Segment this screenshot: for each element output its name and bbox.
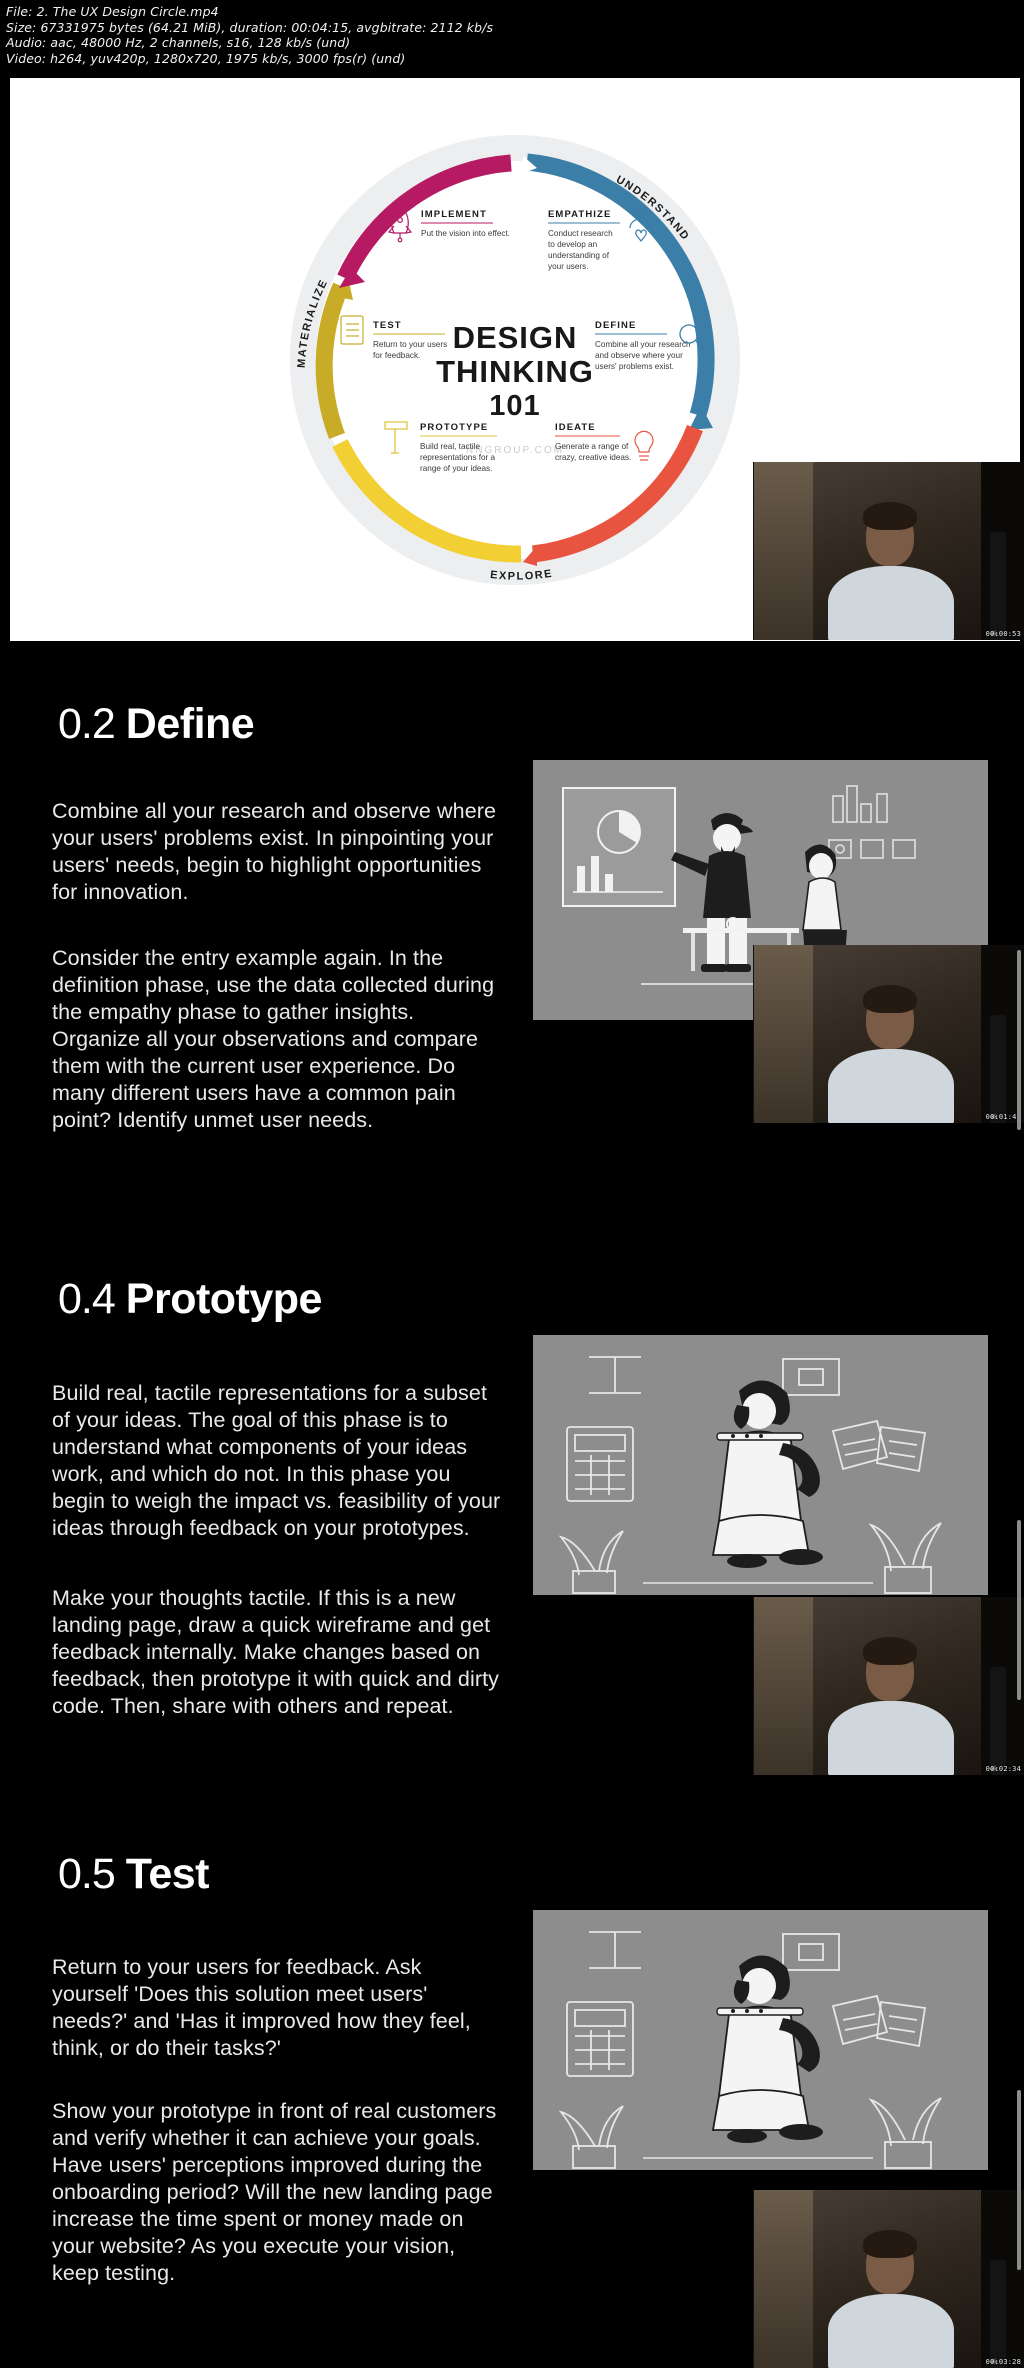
webcam-microphone bbox=[990, 1667, 1006, 1775]
diagram-center-title-line1: DESIGN bbox=[453, 320, 578, 355]
section-title: Define bbox=[126, 700, 254, 748]
svg-text:representations for a: representations for a bbox=[420, 453, 496, 462]
svg-text:Generate a range of: Generate a range of bbox=[555, 442, 629, 451]
svg-text:PROTOTYPE: PROTOTYPE bbox=[420, 422, 488, 433]
webcam-thumbnail-top[interactable]: 4k 00:00:53 bbox=[753, 462, 1024, 640]
webcam-presenter-body bbox=[828, 1049, 954, 1123]
section-prototype: 0.4Prototype Build real, tactile represe… bbox=[0, 1255, 1024, 1815]
section-paragraph-1: Combine all your research and observe wh… bbox=[52, 798, 497, 906]
meta-line-audio: Audio: aac, 48000 Hz, 2 channels, s16, 1… bbox=[6, 35, 1018, 51]
svg-text:TEST: TEST bbox=[373, 320, 402, 331]
webcam-presenter-hair bbox=[863, 985, 917, 1013]
svg-text:DEFINE: DEFINE bbox=[595, 320, 636, 331]
section-paragraph-2: Consider the entry example again. In the… bbox=[52, 945, 497, 1134]
design-thinking-diagram: UNDERSTAND EXPLORE MATERIALIZE DESIGN TH… bbox=[265, 110, 765, 610]
webcam-microphone bbox=[990, 1015, 1006, 1123]
section-number: 0.2 bbox=[58, 700, 115, 748]
svg-text:Conduct research: Conduct research bbox=[548, 229, 613, 238]
webcam-microphone bbox=[990, 532, 1006, 640]
meta-line-size: Size: 67331975 bytes (64.21 MiB), durati… bbox=[6, 20, 1018, 36]
illustration-prototype bbox=[533, 1335, 988, 1595]
svg-text:crazy, creative ideas.: crazy, creative ideas. bbox=[555, 453, 631, 462]
section-define: 0.2Define Combine all your research and … bbox=[0, 680, 1024, 1190]
meta-line-file: File: 2. The UX Design Circle.mp4 bbox=[6, 4, 1018, 20]
svg-text:Put the vision into effect.: Put the vision into effect. bbox=[421, 229, 510, 238]
video-metadata-header: File: 2. The UX Design Circle.mp4 Size: … bbox=[0, 0, 1024, 70]
svg-text:EMPATHIZE: EMPATHIZE bbox=[548, 209, 611, 220]
section-test: 0.5Test Return to your users for feedbac… bbox=[0, 1830, 1024, 2368]
svg-text:your users.: your users. bbox=[548, 262, 589, 271]
webcam-presenter-body bbox=[828, 1701, 954, 1775]
svg-text:understanding of: understanding of bbox=[548, 251, 610, 260]
section-paragraph-2: Make your thoughts tactile. If this is a… bbox=[52, 1585, 502, 1720]
svg-text:Build real, tactile: Build real, tactile bbox=[420, 442, 481, 451]
webcam-presenter-body bbox=[828, 566, 954, 640]
svg-text:Return to your users: Return to your users bbox=[373, 340, 447, 349]
scroll-indicator-3[interactable] bbox=[1017, 2090, 1021, 2270]
webcam-timestamp: 00:01:48 bbox=[986, 1113, 1021, 1121]
svg-text:to develop an: to develop an bbox=[548, 240, 598, 249]
illustration-test bbox=[533, 1910, 988, 2170]
webcam-presenter-body bbox=[828, 2294, 954, 2368]
scroll-indicator-2[interactable] bbox=[1017, 1520, 1021, 1700]
webcam-wall bbox=[754, 462, 813, 640]
section-paragraph-1: Build real, tactile representations for … bbox=[52, 1380, 502, 1542]
webcam-timestamp: 00:03:28 bbox=[986, 2358, 1021, 2366]
svg-text:and observe where your: and observe where your bbox=[595, 351, 683, 360]
webcam-wall bbox=[754, 2190, 813, 2368]
webcam-timestamp: 00:00:53 bbox=[986, 630, 1021, 638]
webcam-thumbnail-prototype[interactable]: 4k 00:02:34 bbox=[753, 1597, 1024, 1775]
section-heading-define: 0.2Define bbox=[58, 700, 254, 748]
section-number: 0.4 bbox=[58, 1275, 115, 1323]
webcam-wall bbox=[754, 945, 813, 1123]
section-paragraph-1: Return to your users for feedback. Ask y… bbox=[52, 1954, 502, 2062]
svg-text:users' problems exist.: users' problems exist. bbox=[595, 362, 674, 371]
webcam-timestamp: 00:02:34 bbox=[986, 1765, 1021, 1773]
svg-text:for feedback.: for feedback. bbox=[373, 351, 420, 360]
section-number: 0.5 bbox=[58, 1850, 115, 1898]
diagram-center-title-line2: THINKING bbox=[436, 354, 594, 389]
section-title: Test bbox=[126, 1850, 209, 1898]
webcam-thumbnail-define[interactable]: 4k 00:01:48 bbox=[753, 945, 1024, 1123]
section-paragraph-2: Show your prototype in front of real cus… bbox=[52, 2098, 502, 2287]
scroll-indicator-1[interactable] bbox=[1017, 950, 1021, 1130]
section-heading-prototype: 0.4Prototype bbox=[58, 1275, 322, 1323]
svg-text:Combine all your research: Combine all your research bbox=[595, 340, 691, 349]
svg-text:range of your ideas.: range of your ideas. bbox=[420, 464, 492, 473]
webcam-microphone bbox=[990, 2260, 1006, 2368]
webcam-presenter-hair bbox=[863, 1637, 917, 1665]
diagram-center-title-line3: 101 bbox=[489, 390, 540, 422]
section-title: Prototype bbox=[126, 1275, 322, 1323]
section-heading-test: 0.5Test bbox=[58, 1850, 209, 1898]
meta-line-video: Video: h264, yuv420p, 1280x720, 1975 kb/… bbox=[6, 51, 1018, 67]
webcam-presenter-hair bbox=[863, 2230, 917, 2258]
webcam-presenter-hair bbox=[863, 502, 917, 530]
svg-text:IDEATE: IDEATE bbox=[555, 422, 596, 433]
webcam-thumbnail-test[interactable]: 4k 00:03:28 bbox=[753, 2190, 1024, 2368]
svg-text:IMPLEMENT: IMPLEMENT bbox=[421, 209, 487, 220]
webcam-wall bbox=[754, 1597, 813, 1775]
